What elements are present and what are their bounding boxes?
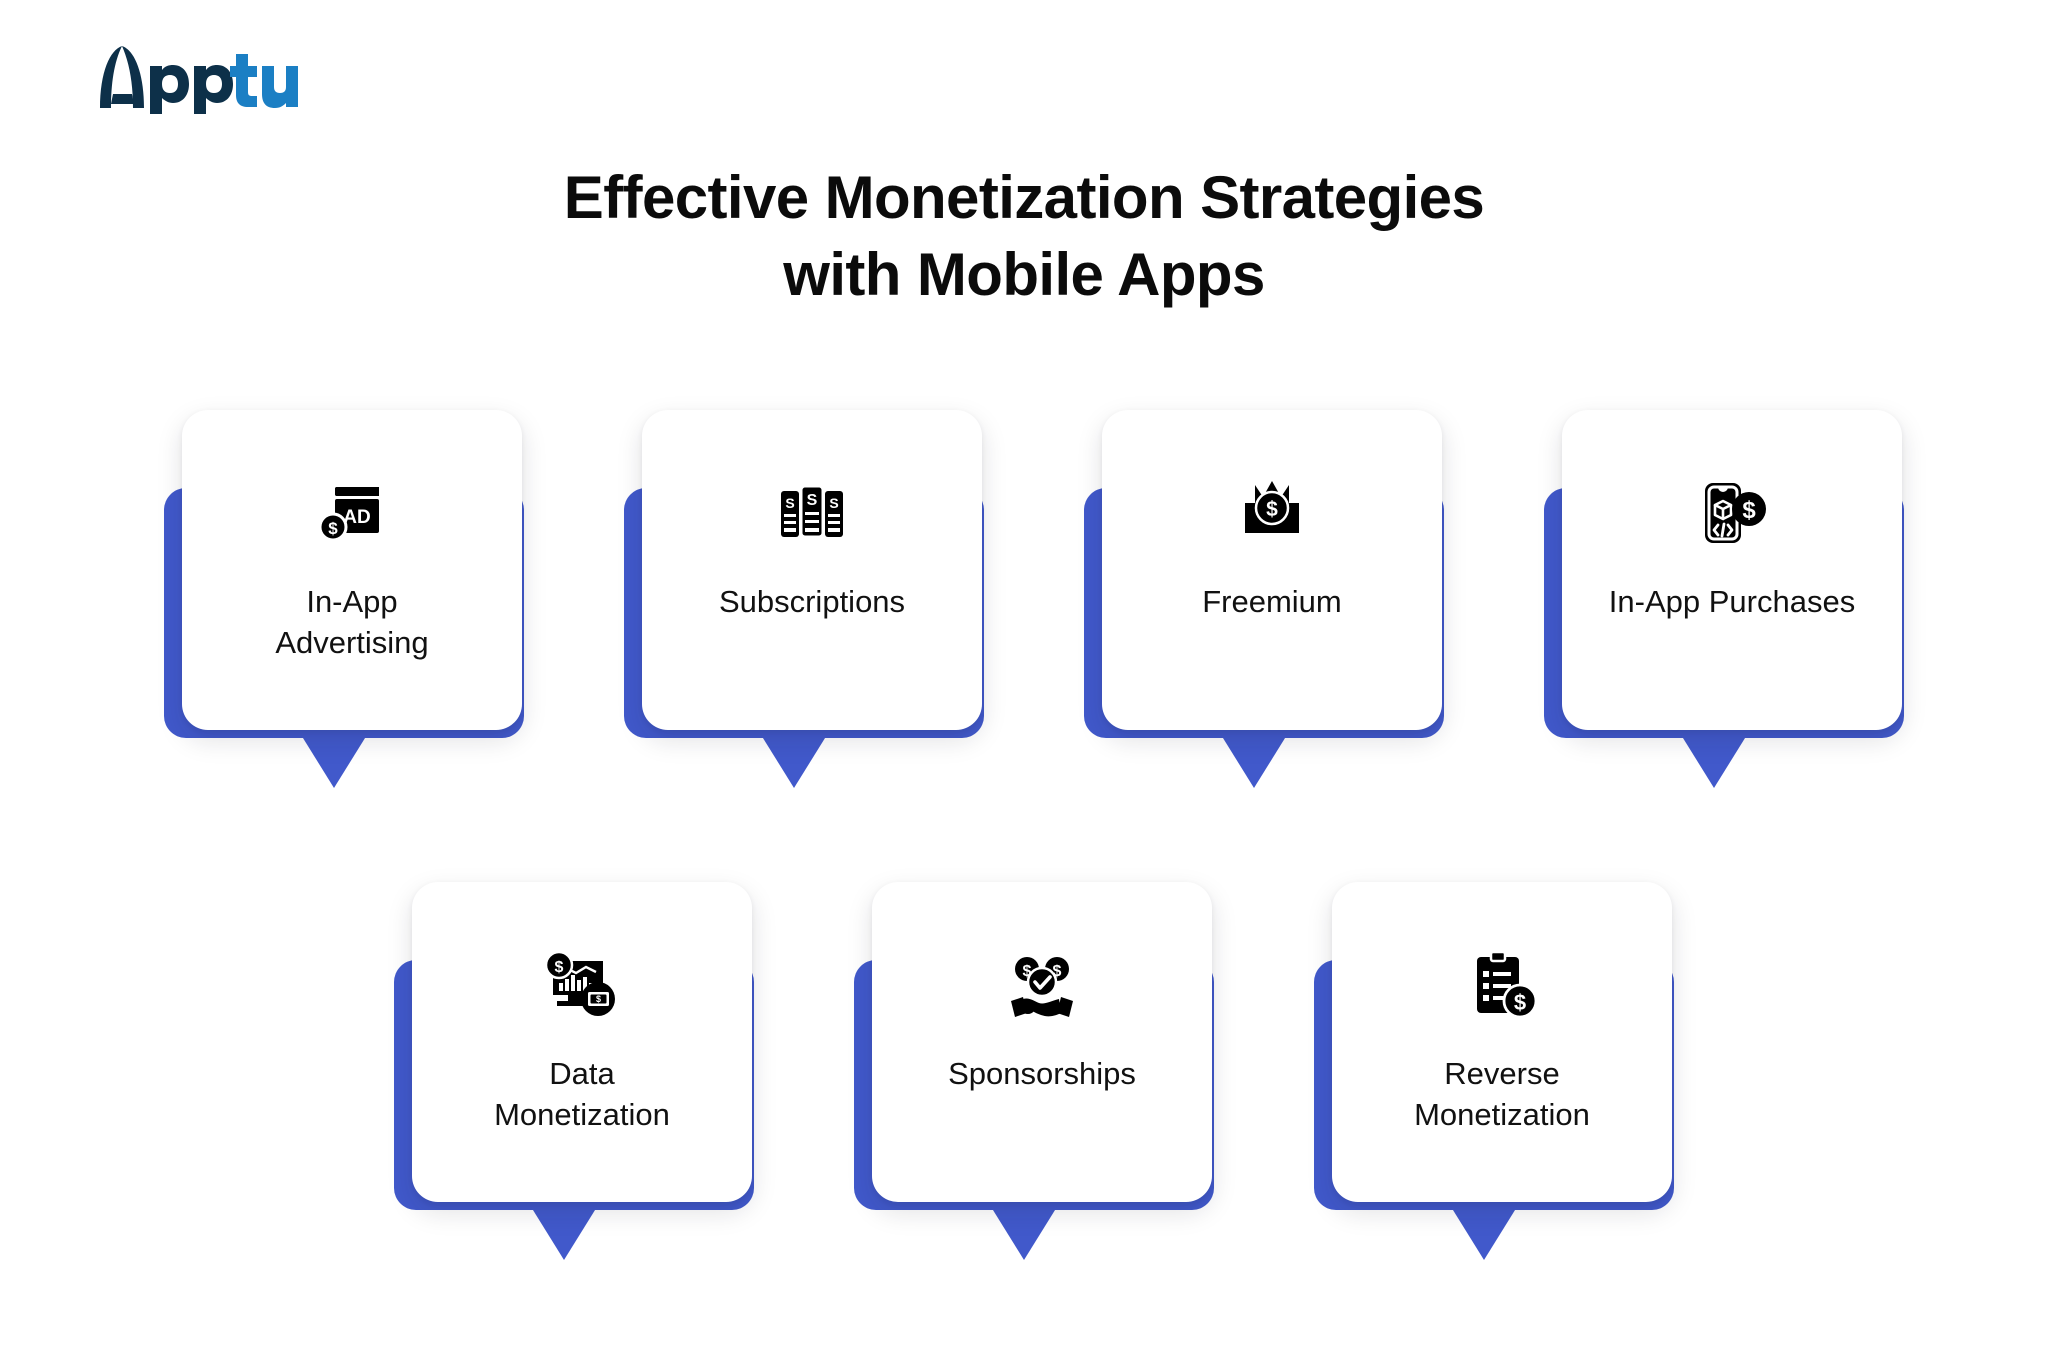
card-pointer-tail: [988, 1202, 1060, 1260]
svg-text:$: $: [596, 994, 601, 1004]
strategy-card-in-app-advertising[interactable]: AD $ In-App Advertising: [154, 410, 514, 810]
strategy-card-subscriptions[interactable]: S S S: [614, 410, 974, 810]
svg-text:S: S: [807, 492, 818, 509]
chart-monitor-money-icon: $ $: [540, 944, 624, 1028]
card-body: S S S: [642, 410, 982, 730]
card-label: In-App Advertising: [202, 582, 502, 664]
card-pointer-tail: [1448, 1202, 1520, 1260]
subscription-cards-icon: S S S: [770, 472, 854, 556]
card-label: Sponsorships: [892, 1054, 1192, 1095]
svg-text:$: $: [555, 959, 564, 976]
card-body: $ In-App Purchases: [1562, 410, 1902, 730]
card-label: Freemium: [1122, 582, 1422, 623]
card-pointer-tail: [298, 730, 370, 788]
page-title-line-1: Effective Monetization Strategies: [0, 160, 2048, 237]
card-label: Subscriptions: [662, 582, 962, 623]
strategy-card-reverse-monetization[interactable]: $ Reverse Monetization: [1304, 882, 1664, 1282]
card-body: AD $ In-App Advertising: [182, 410, 522, 730]
strategy-card-grid: AD $ In-App Advertising: [0, 410, 2048, 1282]
card-pointer-tail: [1218, 730, 1290, 788]
ad-browser-dollar-icon: AD $: [310, 472, 394, 556]
card-pointer-tail: [528, 1202, 600, 1260]
apptunix-logo-mark: tunix: [70, 42, 300, 114]
svg-text:$: $: [1514, 990, 1526, 1015]
page-title: Effective Monetization Strategies with M…: [0, 160, 2048, 314]
card-label: Data Monetization: [432, 1054, 732, 1136]
card-label: In-App Purchases: [1582, 582, 1882, 623]
svg-text:AD: AD: [343, 507, 370, 528]
svg-text:S: S: [785, 495, 794, 511]
handshake-coins-icon: $ $: [1000, 944, 1084, 1028]
phone-cube-dollar-icon: $: [1690, 472, 1774, 556]
card-label: Reverse Monetization: [1352, 1054, 1652, 1136]
page-title-line-2: with Mobile Apps: [0, 237, 2048, 314]
strategy-card-sponsorships[interactable]: $ $ Sponsorships: [844, 882, 1204, 1282]
svg-text:S: S: [829, 495, 838, 511]
clipboard-dollar-icon: $: [1460, 944, 1544, 1028]
strategy-card-freemium[interactable]: $ Freemium: [1074, 410, 1434, 810]
svg-text:$: $: [328, 519, 338, 538]
apptunix-logo[interactable]: tunix Apptunix: [70, 42, 300, 114]
card-row-2: $ $ Data Monetization: [0, 882, 2048, 1282]
card-pointer-tail: [758, 730, 830, 788]
infographic-page: tunix Apptunix Effective Monetization St…: [0, 0, 2048, 1372]
strategy-card-data-monetization[interactable]: $ $ Data Monetization: [384, 882, 744, 1282]
svg-text:$: $: [1266, 498, 1278, 521]
card-row-1: AD $ In-App Advertising: [0, 410, 2048, 810]
strategy-card-in-app-purchases[interactable]: $ In-App Purchases: [1534, 410, 1894, 810]
card-body: $ Freemium: [1102, 410, 1442, 730]
card-pointer-tail: [1678, 730, 1750, 788]
crown-money-icon: $: [1230, 472, 1314, 556]
card-body: $ $ Data Monetization: [412, 882, 752, 1202]
card-body: $ Reverse Monetization: [1332, 882, 1672, 1202]
card-body: $ $ Sponsorships: [872, 882, 1212, 1202]
svg-text:$: $: [1742, 497, 1756, 524]
